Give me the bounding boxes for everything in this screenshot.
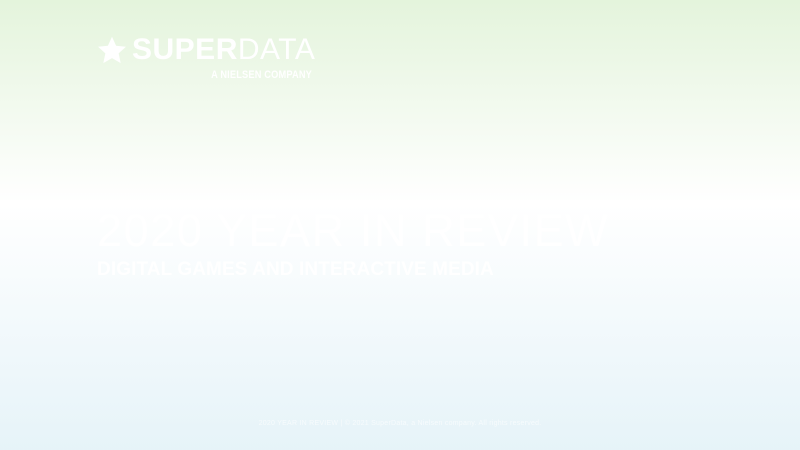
star-icon: [97, 36, 127, 65]
logo-tagline: A NIELSEN COMPANY: [131, 69, 312, 81]
logo-word-super: SUPER: [132, 35, 238, 65]
headline-block: 2020 YEAR IN REVIEW DIGITAL GAMES AND IN…: [97, 206, 717, 281]
footer-copyright: 2020 YEAR IN REVIEW | © 2021 SuperData, …: [0, 419, 800, 429]
logo-wordmark: SUPER DATA: [97, 34, 312, 66]
page-title: 2020 YEAR IN REVIEW: [97, 206, 717, 256]
superdata-logo: SUPER DATA A NIELSEN COMPANY: [97, 34, 312, 81]
title-slide: SUPER DATA A NIELSEN COMPANY 2020 YEAR I…: [0, 0, 800, 450]
logo-word-data: DATA: [238, 35, 316, 65]
page-subtitle: DIGITAL GAMES AND INTERACTIVE MEDIA: [97, 259, 717, 281]
